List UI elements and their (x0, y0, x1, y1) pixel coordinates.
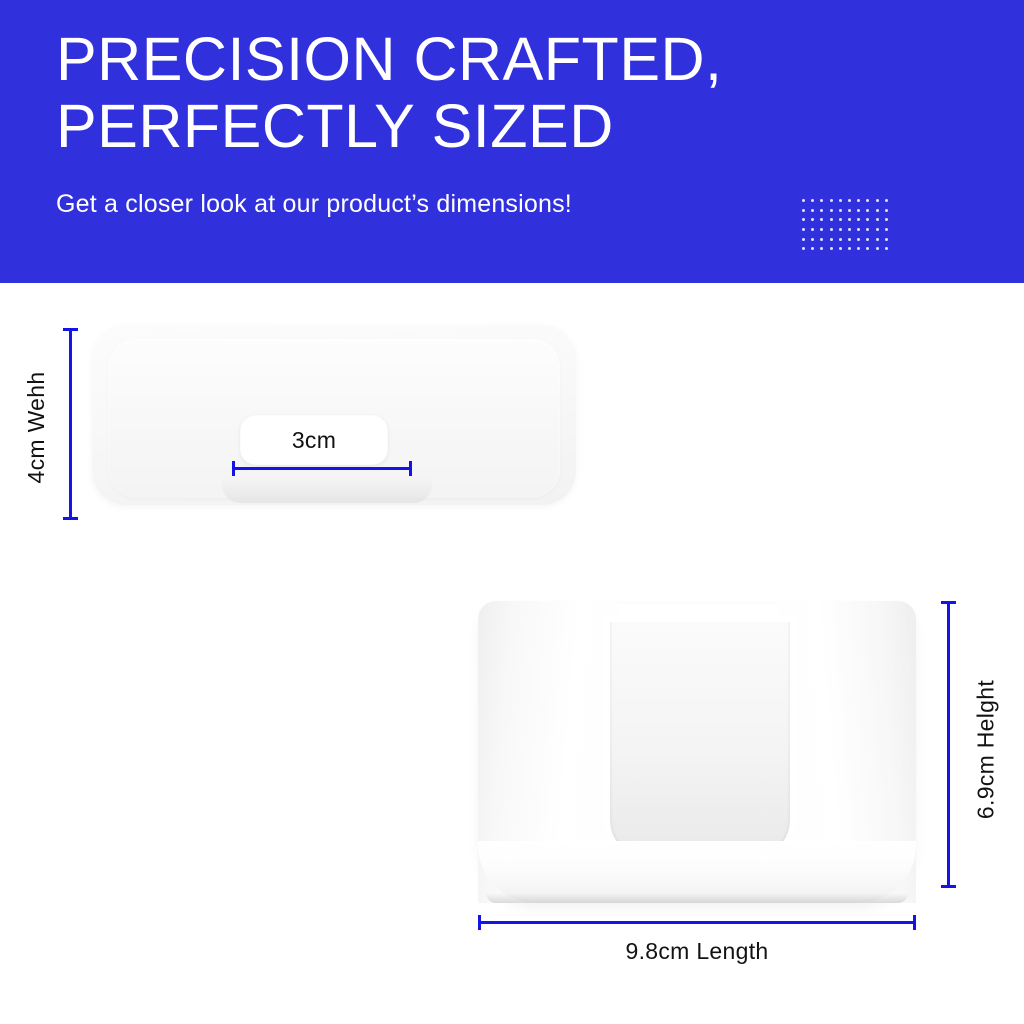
dot (876, 209, 879, 212)
dot (857, 238, 860, 241)
dot (885, 218, 888, 221)
dimension-shaft (478, 921, 916, 924)
dot (848, 228, 851, 231)
dot (857, 218, 860, 221)
page-title: PRECISION CRAFTED, PERFECTLY SIZED (56, 26, 856, 160)
dimension-shaft (232, 467, 412, 470)
dot (811, 238, 814, 241)
dot (857, 199, 860, 202)
holder-height-dimension-label: 6.9cm Helght (973, 655, 1000, 845)
dot (866, 218, 869, 221)
dot (802, 228, 805, 231)
dot (857, 228, 860, 231)
dot (885, 238, 888, 241)
dot (848, 209, 851, 212)
dot (839, 218, 842, 221)
plate-slot-callout: 3cm (240, 415, 388, 465)
dot (876, 199, 879, 202)
dot (830, 238, 833, 241)
dimension-shaft (69, 328, 72, 520)
dot (820, 238, 823, 241)
diagram-area: 4cm Wehh 3cm (0, 283, 1024, 1024)
header-banner: PRECISION CRAFTED, PERFECTLY SIZED Get a… (0, 0, 1024, 283)
product-plate: 3cm (92, 325, 576, 505)
dot (857, 247, 860, 250)
dot (876, 247, 879, 250)
dot (830, 199, 833, 202)
dimension-cap-right (409, 461, 412, 476)
dot (866, 247, 869, 250)
dot (839, 199, 842, 202)
plate-height-dimension-line (63, 328, 78, 520)
dot (866, 238, 869, 241)
dot (848, 238, 851, 241)
dot (857, 209, 860, 212)
dimension-cap-bottom (63, 517, 78, 520)
dot (820, 247, 823, 250)
dimension-shaft (947, 601, 950, 888)
dot (839, 238, 842, 241)
holder-length-dimension-label: 9.8cm Length (478, 938, 916, 965)
dot (866, 228, 869, 231)
dot (811, 209, 814, 212)
dot (830, 209, 833, 212)
header-subtitle: Get a closer look at our product’s dimen… (56, 188, 572, 220)
dot (802, 199, 805, 202)
dot (885, 228, 888, 231)
dot (885, 247, 888, 250)
dot (839, 228, 842, 231)
dot (830, 247, 833, 250)
holder-height-dimension-line (941, 601, 956, 888)
dot (820, 228, 823, 231)
plate-slot-label: 3cm (292, 427, 336, 454)
dot-grid-decoration-icon (802, 199, 894, 257)
dot (802, 218, 805, 221)
dot (802, 247, 805, 250)
dot (848, 199, 851, 202)
dimension-cap-right (913, 915, 916, 930)
dot (885, 209, 888, 212)
dot (820, 218, 823, 221)
dimension-cap-bottom (941, 885, 956, 888)
dot (802, 209, 805, 212)
holder-base-shadow (486, 893, 908, 903)
holder-length-dimension-line (478, 915, 916, 930)
dot (876, 228, 879, 231)
dot (866, 209, 869, 212)
dot (820, 209, 823, 212)
dot (885, 199, 888, 202)
dot (839, 247, 842, 250)
dot (820, 199, 823, 202)
dot (830, 228, 833, 231)
dot (811, 218, 814, 221)
dot (811, 247, 814, 250)
plate-height-dimension-label: 4cm Wehh (23, 365, 50, 490)
dot (802, 238, 805, 241)
dot (876, 218, 879, 221)
dot (876, 238, 879, 241)
infographic-page: PRECISION CRAFTED, PERFECTLY SIZED Get a… (0, 0, 1024, 1024)
dot (811, 228, 814, 231)
dot (866, 199, 869, 202)
holder-recessed-panel (610, 618, 790, 858)
dot (848, 218, 851, 221)
plate-bottom-sheen (222, 477, 432, 503)
dot (848, 247, 851, 250)
dot (811, 199, 814, 202)
dot (839, 209, 842, 212)
dot (830, 218, 833, 221)
product-holder (478, 598, 916, 903)
plate-slot-width-dimension-line (232, 461, 412, 476)
